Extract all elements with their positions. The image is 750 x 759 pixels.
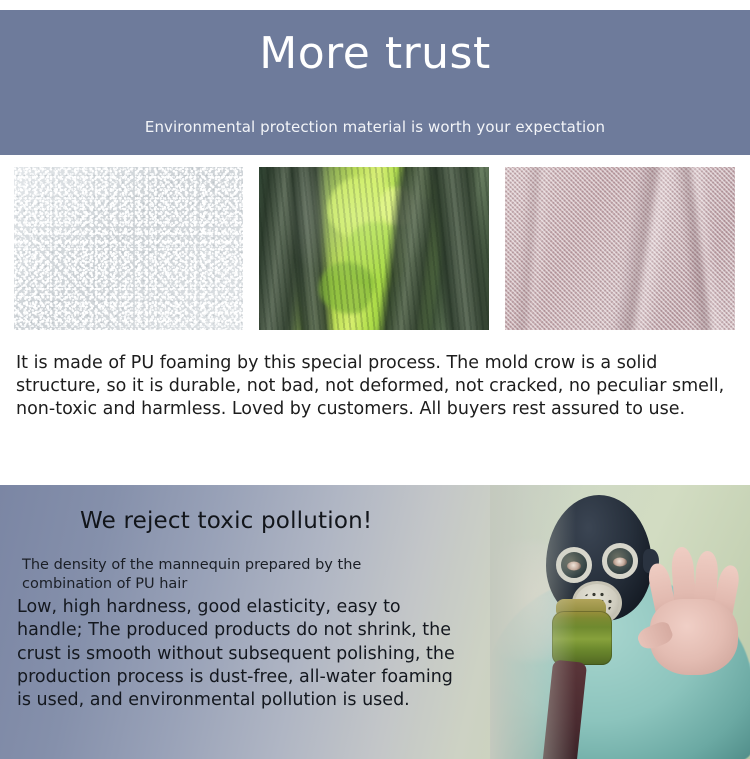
tree-trunk-shape (423, 167, 489, 330)
gas-mask-photo (490, 485, 750, 759)
raised-hand (636, 537, 748, 677)
tree-canopy-graphic (259, 167, 489, 330)
photo-left-fade-overlay (490, 485, 576, 759)
image-gallery (0, 167, 750, 330)
panel-note-text: The density of the mannequin prepared by… (22, 556, 442, 593)
panel-heading: We reject toxic pollution! (80, 508, 372, 534)
gallery-image-green-tree-canopy-photo (259, 167, 489, 330)
fabric-fold-shape (510, 167, 555, 330)
pu-foam-texture-graphic (14, 167, 243, 330)
eye-shape (613, 557, 627, 566)
fabric-fold-shape (673, 167, 729, 330)
leaf-cluster-shape (379, 187, 416, 226)
gallery-image-pu-foam-sheet-texture (14, 167, 243, 330)
gallery-image-pink-woven-fabric-texture (505, 167, 735, 330)
leaf-cluster-shape (319, 262, 374, 314)
leaf-cluster-shape (328, 177, 397, 242)
leaf-cluster-shape (344, 222, 406, 290)
woven-fabric-texture-graphic (505, 167, 735, 330)
panel-description-paragraph: Low, high hardness, good elasticity, eas… (17, 596, 467, 712)
page-title: More trust (0, 30, 750, 78)
page-subtitle: Environmental protection material is wor… (0, 118, 750, 136)
tree-trunk-shape (284, 167, 338, 330)
fabric-fold-shape (610, 167, 681, 330)
tree-trunk-shape (259, 167, 320, 330)
header-banner: More trust Environmental protection mate… (0, 10, 750, 155)
product-description-paragraph: It is made of PU foaming by this special… (16, 352, 726, 421)
tree-trunk-shape (373, 167, 451, 330)
leaf-cluster-shape (397, 167, 438, 200)
gas-mask-lens-right (602, 543, 638, 579)
